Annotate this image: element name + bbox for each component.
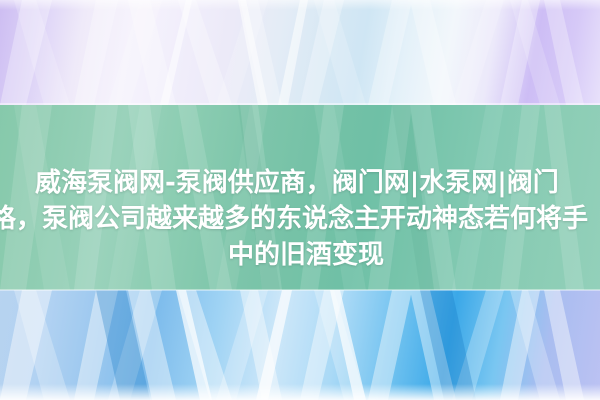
caption-line-1: 威海泵阀网-泵阀供应商，阀门网|水泵网|阀门 <box>0 166 600 200</box>
band-divider-top <box>0 103 600 105</box>
top-lavender-band <box>0 0 600 105</box>
banner-caption: 威海泵阀网-泵阀供应商，阀门网|水泵网|阀门 格，泵阀公司越来越多的东说念主开动… <box>0 160 600 280</box>
promo-banner: 威海泵阀网-泵阀供应商，阀门网|水泵网|阀门 格，泵阀公司越来越多的东说念主开动… <box>0 0 600 400</box>
caption-line-2: 格，泵阀公司越来越多的东说念主开动神态若何将手 <box>0 202 600 236</box>
caption-line-3: 中的旧酒变现 <box>0 238 600 272</box>
bottom-blue-band <box>0 290 600 400</box>
top-band-gradient <box>0 0 600 105</box>
band-divider-bottom <box>0 289 600 291</box>
top-band-sheen <box>0 0 600 10</box>
bottom-band-sheen <box>0 384 600 400</box>
